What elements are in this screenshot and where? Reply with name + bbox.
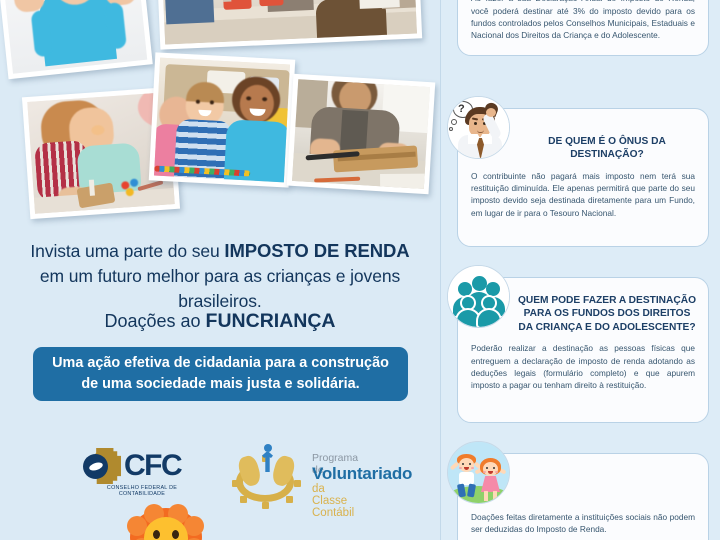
headline-line-2: em um futuro melhor para as crianças e j… xyxy=(0,264,440,314)
left-panel: Invista uma parte do seu IMPOSTO DE REND… xyxy=(0,0,440,540)
logo-row: CFC CONSELHO FEDERAL DE CONTABILIDADE Pr… xyxy=(0,440,440,540)
two-kids-icon xyxy=(447,441,510,504)
confused-man-icon: ? xyxy=(447,96,510,159)
subheadline-prefix: Doações ao xyxy=(104,311,205,331)
cfc-emblem-icon xyxy=(83,448,121,484)
lion-mascot-icon xyxy=(130,508,202,540)
people-group-icon xyxy=(447,265,510,328)
photo-teacher-helping-student xyxy=(287,74,436,194)
headline-line-1: Invista uma parte do seu IMPOSTO DE REND… xyxy=(0,238,440,264)
cta-line-2: de uma sociedade mais justa e solidária. xyxy=(52,374,389,395)
photo-classroom-students xyxy=(156,0,422,50)
page-headline: Invista uma parte do seu IMPOSTO DE REND… xyxy=(0,238,440,314)
cfc-acronym: CFC xyxy=(124,451,181,481)
card-2-body: O contribuinte não pagará mais imposto n… xyxy=(458,162,708,229)
card-3-body: Poderão realizar a destinação as pessoas… xyxy=(458,334,708,401)
cfc-subtitle: CONSELHO FEDERAL DE CONTABILIDADE xyxy=(83,485,201,497)
card-1-body: Ao fazer a sua Declaração Anual de Impos… xyxy=(458,0,708,52)
photo-child-painted-hands xyxy=(0,0,153,79)
kid-boy xyxy=(454,454,480,500)
headline-emphasis: IMPOSTO DE RENDA xyxy=(224,240,409,261)
headline-prefix: Invista uma parte do seu xyxy=(30,241,224,261)
kid-girl xyxy=(478,458,504,502)
card-onus-destinacao: ? DE QUEM É O ÔNUS DA DESTINAÇÃO? O cont… xyxy=(457,108,709,247)
right-panel: SEU IMPOSTO DE RENDA? Ao fazer a sua Dec… xyxy=(440,0,720,540)
card-imposto-renda: SEU IMPOSTO DE RENDA? Ao fazer a sua Dec… xyxy=(457,0,709,56)
card-importante: Doações feitas diretamente a instituiçõe… xyxy=(457,453,709,540)
logo-cfc: CFC CONSELHO FEDERAL DE CONTABILIDADE xyxy=(83,448,201,497)
subheadline-emphasis: FUNCRIANÇA xyxy=(206,310,336,332)
voluntariado-emblem-icon xyxy=(228,446,306,504)
card-quem-pode-fazer: QUEM PODE FAZER A DESTINAÇÃO PARA OS FUN… xyxy=(457,277,709,423)
photo-kids-smiling-classroom xyxy=(149,52,296,187)
page-subheadline: Doações ao FUNCRIANÇA xyxy=(0,310,440,333)
cta-banner: Uma ação efetiva de cidadania para a con… xyxy=(33,347,408,401)
voluntariado-line-2: Voluntariado xyxy=(312,464,412,484)
cta-line-1: Uma ação efetiva de cidadania para a con… xyxy=(52,353,389,374)
voluntariado-line-3: da Classe Contábil xyxy=(312,483,354,519)
